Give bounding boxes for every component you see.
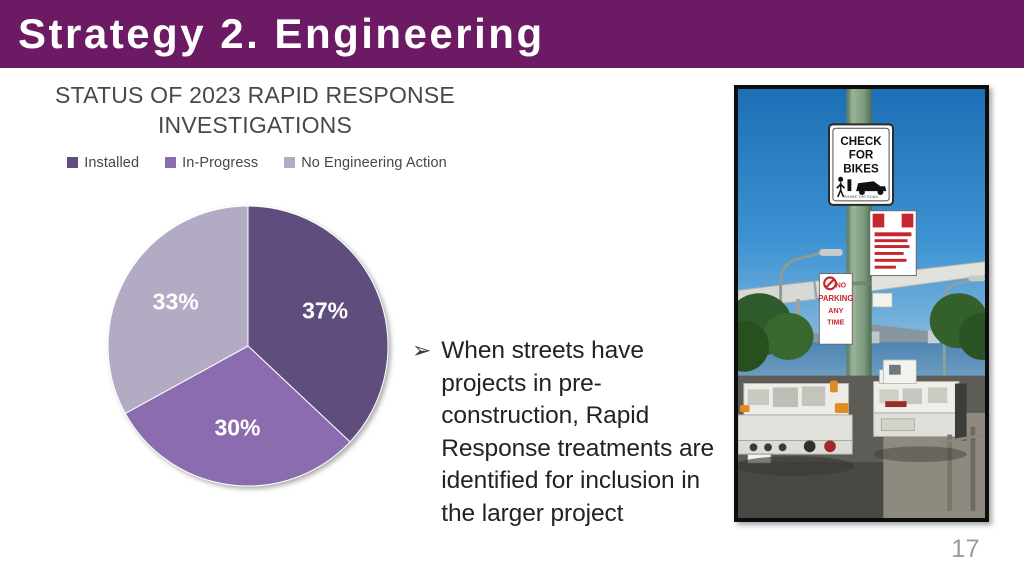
legend-label-installed: Installed xyxy=(84,155,139,171)
legend-item-installed[interactable]: Installed xyxy=(67,155,139,171)
legend-item-no-engineering-action[interactable]: No Engineering Action xyxy=(284,155,447,171)
pie-chart: 37%30%33% xyxy=(107,205,389,487)
svg-text:CHECK: CHECK xyxy=(840,135,882,148)
chart-legend: Installed In-Progress No Engineering Act… xyxy=(0,155,510,171)
legend-swatch-in-progress xyxy=(165,157,176,168)
svg-text:PARKING: PARKING xyxy=(818,294,853,303)
svg-text:NO: NO xyxy=(836,282,847,289)
legend-label-in-progress: In-Progress xyxy=(182,155,258,171)
bullet-list: ➢ When streets have projects in pre-cons… xyxy=(412,335,732,530)
utility-truck-left xyxy=(738,381,852,463)
svg-text:TIME: TIME xyxy=(827,318,844,327)
legend-swatch-installed xyxy=(67,157,78,168)
chart-title-line-2: INVESTIGATIONS xyxy=(14,110,496,140)
bullet-arrow-icon: ➢ xyxy=(412,335,431,530)
bullet-item-text: When streets have projects in pre-constr… xyxy=(441,335,732,530)
right-regulatory-sign xyxy=(870,211,916,276)
legend-swatch-no-engineering-action xyxy=(284,157,295,168)
legend-item-in-progress[interactable]: In-Progress xyxy=(165,155,258,171)
check-for-bikes-sign: CHECK FOR BIKES SHARE THE ROAD xyxy=(829,124,893,204)
chart-title: STATUS OF 2023 RAPID RESPONSE INVESTIGAT… xyxy=(0,80,510,141)
svg-text:ANY: ANY xyxy=(828,306,843,315)
svg-text:SHARE THE ROAD: SHARE THE ROAD xyxy=(844,194,878,199)
pie-label-installed: 37% xyxy=(302,298,348,324)
pie-slices xyxy=(108,206,388,486)
pie-chart-svg: 37%30%33% xyxy=(107,205,389,487)
legend-label-no-engineering-action: No Engineering Action xyxy=(301,155,447,171)
no-parking-sign: NO PARKING ANY TIME xyxy=(818,274,853,345)
street-photo: CHECK FOR BIKES SHARE THE ROAD xyxy=(734,85,989,522)
pie-label-no-engineering-action: 33% xyxy=(153,288,199,314)
slide-title-banner: Strategy 2. Engineering xyxy=(0,0,1024,68)
svg-text:FOR: FOR xyxy=(849,149,874,162)
svg-text:BIKES: BIKES xyxy=(843,162,879,175)
street-photo-image: CHECK FOR BIKES SHARE THE ROAD xyxy=(738,89,985,518)
page-number: 17 xyxy=(951,535,980,564)
pie-label-in-progress: 30% xyxy=(214,414,260,440)
page-title: Strategy 2. Engineering xyxy=(0,13,545,55)
chart-title-line-1: STATUS OF 2023 RAPID RESPONSE xyxy=(14,80,496,110)
